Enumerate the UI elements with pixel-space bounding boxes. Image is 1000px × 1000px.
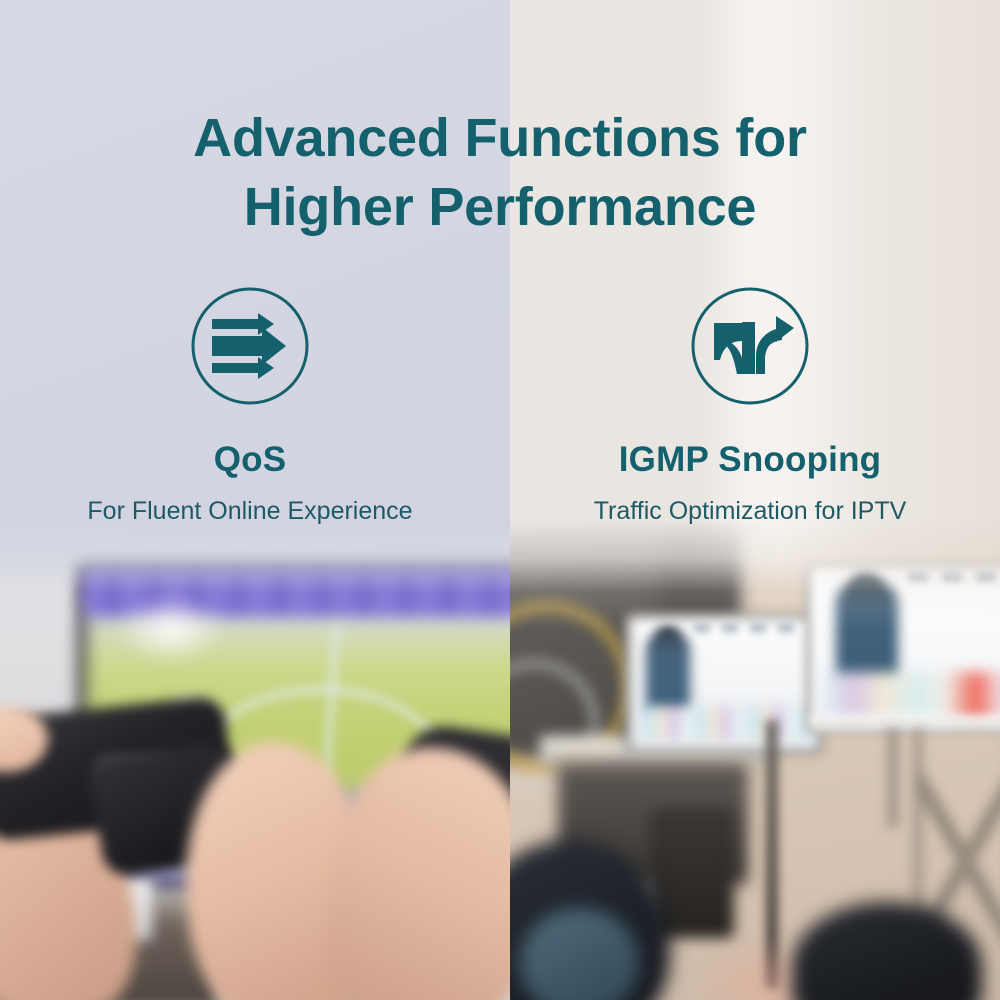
page-title-line-2: Higher Performance bbox=[0, 173, 1000, 242]
igmp-branching-arrow-icon bbox=[690, 286, 810, 406]
feature-list: QoS For Fluent Online Experience IGMP Sn… bbox=[0, 286, 1000, 524]
feature-qos: QoS For Fluent Online Experience bbox=[0, 286, 500, 524]
feature-igmp-subtitle: Traffic Optimization for IPTV bbox=[594, 499, 907, 524]
page-title: Advanced Functions for Higher Performanc… bbox=[0, 104, 1000, 241]
iptv-showroom-photo bbox=[510, 520, 1000, 1000]
screen-two-text-lines bbox=[908, 572, 1000, 581]
qos-priority-arrows-icon bbox=[190, 286, 310, 406]
page-title-line-1: Advanced Functions for bbox=[0, 104, 1000, 173]
screen-one-person-body bbox=[646, 632, 690, 714]
screen-one-product-row bbox=[642, 706, 812, 740]
gaming-scene-photo bbox=[0, 520, 510, 1000]
screen-highlight bbox=[116, 594, 226, 664]
feature-banner: Advanced Functions for Higher Performanc… bbox=[0, 0, 1000, 1000]
feature-igmp-snooping: IGMP Snooping Traffic Optimization for I… bbox=[500, 286, 1000, 524]
display-stand-pole-right bbox=[888, 728, 898, 828]
feature-igmp-title: IGMP Snooping bbox=[619, 442, 882, 477]
feature-qos-title: QoS bbox=[214, 442, 287, 477]
screen-two-product-row bbox=[826, 672, 1000, 720]
feature-qos-subtitle: For Fluent Online Experience bbox=[87, 499, 412, 524]
screen-two-person-body bbox=[836, 580, 898, 682]
screen-one-text-lines bbox=[694, 624, 800, 632]
